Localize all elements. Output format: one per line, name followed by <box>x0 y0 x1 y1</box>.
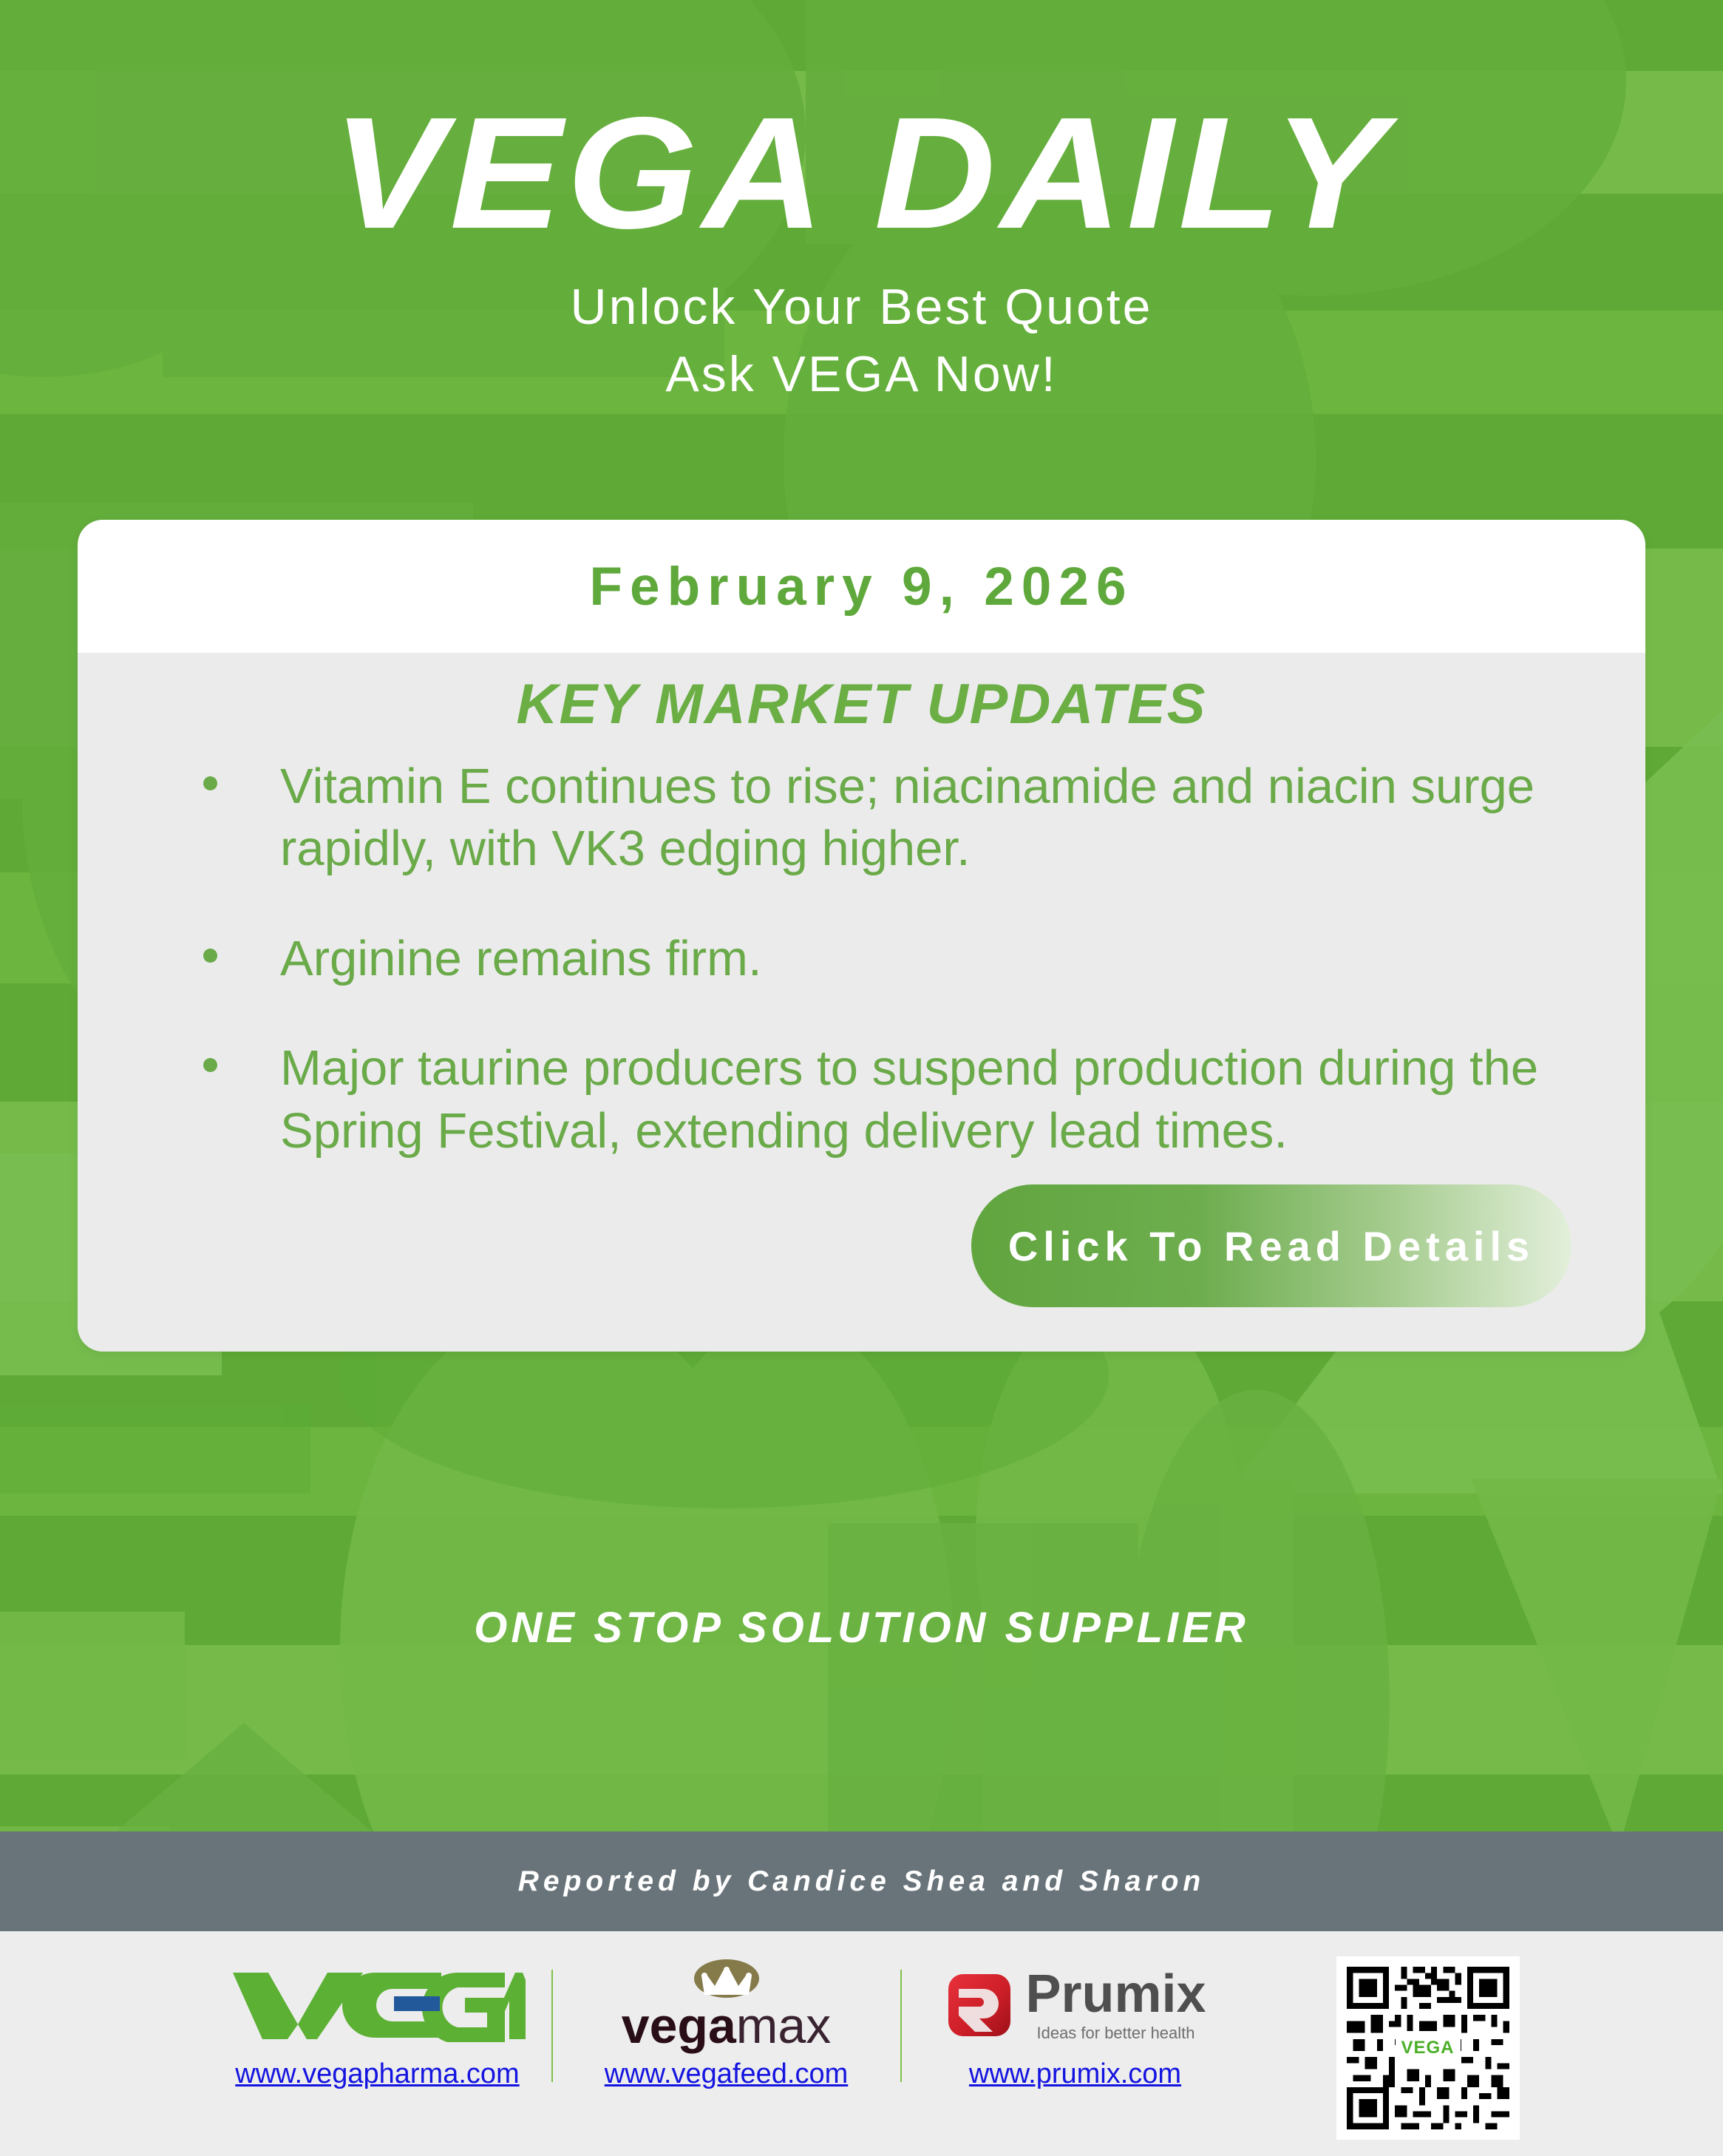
hero-subtitle: Unlock Your Best Quote Ask VEGA Now! <box>0 248 1723 408</box>
vega-url-link[interactable]: www.vegapharma.com <box>235 2058 519 2090</box>
vegamax-crown-icon <box>682 1959 771 2001</box>
bullet-dot-icon <box>203 776 217 790</box>
bullet-dot-icon <box>203 1058 217 1072</box>
updates-card: February 9, 2026 KEY MARKET UPDATES Vita… <box>78 520 1645 1352</box>
page-title: VEGA DAILY <box>0 0 1723 248</box>
vegafeed-url-link[interactable]: www.vegafeed.com <box>605 2058 849 2090</box>
list-item: Arginine remains firm. <box>196 928 1564 990</box>
section-heading: KEY MARKET UPDATES <box>115 672 1608 736</box>
list-item-text: Vitamin E continues to rise; niacinamide… <box>280 759 1535 876</box>
reporter-credit: Reported by Candice Shea and Sharon <box>518 1865 1205 1898</box>
company-tagline: ONE STOP SOLUTION SUPPLIER <box>0 1603 1723 1652</box>
vegamax-wordmark: vegamax <box>622 2001 831 2051</box>
prumix-wordmark: Prumix <box>1025 1967 1206 2021</box>
list-item: Vitamin E continues to rise; niacinamide… <box>196 756 1564 881</box>
hero-subtitle-line-1: Unlock Your Best Quote <box>570 279 1152 335</box>
vegamax-light-part: max <box>736 1998 831 2054</box>
hero-subtitle-line-2: Ask VEGA Now! <box>665 346 1057 402</box>
vegamax-bold-part: vega <box>622 1998 736 2054</box>
brand-vegamax: vegamax www.vegafeed.com <box>553 1931 900 2090</box>
reporter-bar: Reported by Candice Shea and Sharon <box>0 1831 1723 1931</box>
read-details-button[interactable]: Click To Read Details <box>971 1184 1571 1307</box>
issue-date: February 9, 2026 <box>589 556 1133 617</box>
qr-center-logo: VEGA <box>1396 2031 1461 2065</box>
footer: www.vegapharma.com vegamax <box>0 1931 1723 2156</box>
hero-section: VEGA DAILY Unlock Your Best Quote Ask VE… <box>0 0 1723 408</box>
list-item-text: Major taurine producers to suspend produ… <box>280 1040 1538 1158</box>
prumix-tagline: Ideas for better health <box>1036 2024 1194 2043</box>
list-item: Major taurine producers to suspend produ… <box>196 1037 1564 1162</box>
updates-list: Vitamin E continues to rise; niacinamide… <box>129 756 1594 1162</box>
brand-vega: www.vegapharma.com <box>204 1931 551 2090</box>
prumix-mark-icon <box>944 1970 1015 2041</box>
prumix-url-link[interactable]: www.prumix.com <box>969 2058 1181 2090</box>
brand-prumix: Prumix Ideas for better health www.prumi… <box>902 1931 1249 2090</box>
bullet-dot-icon <box>203 949 217 963</box>
prumix-logo: Prumix Ideas for better health <box>944 1965 1206 2045</box>
newsletter-poster: VEGA DAILY Unlock Your Best Quote Ask VE… <box>0 0 1723 2156</box>
qr-code[interactable]: VEGA <box>1336 1956 1520 2140</box>
card-body: KEY MARKET UPDATES Vitamin E continues t… <box>78 653 1645 1352</box>
cta-row: Click To Read Details <box>129 1162 1594 1307</box>
vega-logo <box>230 1965 526 2045</box>
list-item-text: Arginine remains firm. <box>280 931 762 986</box>
card-header: February 9, 2026 <box>78 520 1645 653</box>
vegamax-logo: vegamax <box>622 1965 831 2045</box>
